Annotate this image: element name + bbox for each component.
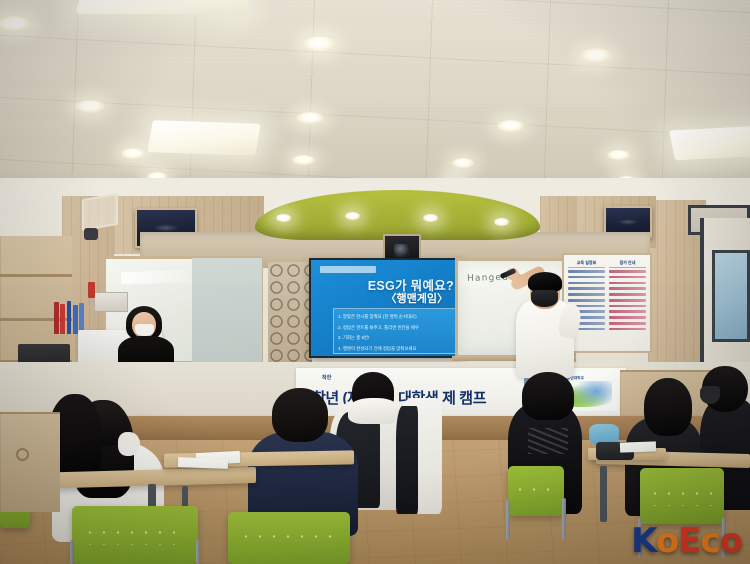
wall-poster-board: 교육 일정표 참가 안내 — [562, 253, 652, 353]
soffit-downlight-2 — [345, 212, 360, 220]
ceiling-downlight-10 — [607, 150, 630, 160]
desk-papers-right — [620, 441, 656, 452]
desk-frame-right — [600, 466, 607, 522]
logo-letter-k: K — [631, 521, 656, 561]
student-hoodie-hood — [348, 398, 400, 424]
poster-line — [609, 328, 646, 331]
student-black-hoodie-print — [528, 428, 568, 454]
student-far-right-mask — [700, 386, 720, 404]
slide-subtitle: 〈행맨게임〉 — [311, 290, 448, 306]
chair-leg — [196, 540, 200, 564]
poster-line — [609, 287, 646, 290]
presentation-slide: ESG가 뭐예요? 〈행맨게임〉 1. 알맞은 한시를 맞춰요 (한 명씩 순서… — [311, 260, 462, 356]
projector-mount-bracket — [82, 193, 118, 231]
poster-line — [609, 316, 646, 319]
poster-line — [609, 276, 646, 279]
student-ponytail-hair — [644, 378, 692, 436]
ceiling-downlight-4 — [75, 100, 105, 113]
projector-lens-icon — [394, 244, 410, 257]
poster-line — [609, 305, 646, 308]
slide-bullet-2: 2. 정답은 힌트를 봐주고, 틀리면 빈칸을 채우 — [338, 323, 454, 334]
slide-bullet-card: 1. 알맞은 한시를 맞춰요 (한 명씩 순서대로) 2. 정답은 힌트를 봐주… — [333, 308, 459, 354]
ceiling-downlight-2 — [302, 36, 336, 52]
ceiling-downlight-8 — [292, 155, 315, 165]
presenter-face-mask — [531, 290, 558, 307]
poster-column-2-header: 참가 안내 — [609, 260, 646, 268]
logo-letter-e: E — [678, 521, 700, 561]
classroom-photo: ESG가 뭐예요? 〈행맨게임〉 1. 알맞은 한시를 맞춰요 (한 명씩 순서… — [0, 0, 750, 564]
book — [54, 302, 59, 334]
book — [67, 301, 72, 334]
poster-line — [609, 322, 646, 325]
poster-line — [568, 282, 605, 285]
logo-letter-c: c — [700, 521, 719, 561]
cabinet-handle-icon — [16, 448, 29, 461]
slide-header-tag — [320, 266, 376, 273]
shelf-divider — [0, 274, 72, 277]
poster-line — [609, 270, 646, 273]
slide-bullet-3: 3. 기회는 총 5번! — [338, 333, 454, 344]
soffit-downlight-3 — [423, 214, 438, 222]
left-gray-wall — [192, 258, 262, 370]
projection-screen: ESG가 뭐예요? 〈행맨게임〉 1. 알맞은 한시를 맞춰요 (한 명씩 순서… — [309, 258, 464, 358]
book — [60, 304, 65, 334]
poster-line — [609, 299, 646, 302]
poster-line — [609, 310, 646, 313]
presenter-hair — [528, 272, 562, 292]
logo-wave-shape — [572, 381, 612, 407]
ceiling-downlight-6 — [497, 120, 524, 132]
poster-line — [568, 270, 605, 273]
student-black-hoodie-hair — [522, 372, 574, 420]
student-white-mask — [118, 432, 140, 456]
chair-right[interactable] — [640, 468, 724, 524]
chair-front-left[interactable] — [72, 506, 198, 564]
student-left-edge-vest — [396, 406, 418, 514]
poster-line — [609, 282, 646, 285]
koeco-logo: KoEco — [631, 524, 742, 558]
logo-letter-o2: o — [720, 521, 742, 561]
poster-line — [568, 293, 605, 296]
soffit-downlight-4 — [494, 218, 509, 226]
ceiling-panel-light-3 — [669, 125, 750, 160]
slide-bullet-1: 1. 알맞은 한시를 맞춰요 (한 명씩 순서대로) — [338, 312, 454, 323]
desk-organizer — [94, 292, 128, 312]
ceiling-panel-light-1 — [76, 0, 250, 14]
red-pen-holder — [88, 282, 95, 298]
poster-column-2: 참가 안내 — [609, 260, 646, 346]
ceiling-camera — [84, 228, 98, 240]
chair-leg — [562, 498, 566, 540]
poster-line — [568, 299, 605, 302]
left-low-cabinet[interactable] — [0, 412, 60, 512]
chair-mid[interactable] — [508, 466, 564, 516]
ceiling-downlight-5 — [296, 112, 324, 124]
poster-column-1-header: 교육 일정표 — [568, 260, 605, 268]
book — [73, 305, 78, 334]
honeycomb-wall-decor — [268, 262, 312, 364]
staff-face-mask — [135, 324, 154, 336]
chair-leg — [70, 540, 74, 564]
slide-bullet-4: 4. 행맨이 완성되기 전에 정답을 맞춰보세요 — [338, 344, 454, 355]
poster-line — [568, 287, 605, 290]
poster-line — [609, 293, 646, 296]
ceiling-downlight-3 — [580, 48, 612, 63]
ceiling-panel-light-2 — [147, 120, 261, 156]
student-navy-head — [272, 388, 328, 442]
desk-papers-center-2 — [178, 457, 228, 469]
logo-letter-o: o — [656, 521, 678, 561]
door-glass-panel — [712, 250, 750, 342]
chair-leg — [506, 500, 510, 540]
ceiling-downlight-9 — [452, 158, 474, 168]
ceiling-downlight-7 — [121, 148, 145, 159]
soffit-downlight-1 — [276, 214, 291, 222]
poster-line — [568, 276, 605, 279]
chair-front-right[interactable] — [228, 512, 350, 564]
bookshelf-books — [54, 300, 84, 334]
banner-subtitle: 착한 — [322, 374, 332, 381]
